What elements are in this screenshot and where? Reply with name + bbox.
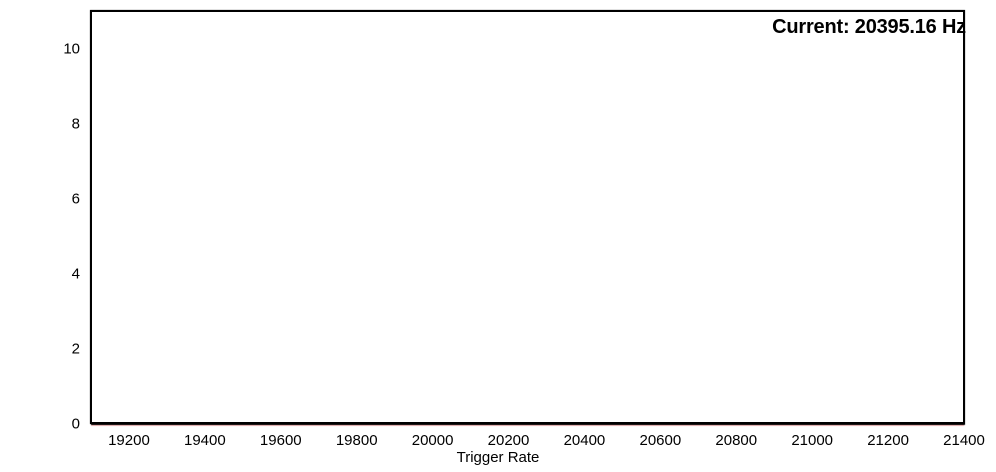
x-tick-label-8: 20800 — [715, 432, 757, 449]
x-tick-label-7: 20600 — [639, 432, 681, 449]
y-tick-label-2: 4 — [40, 265, 80, 282]
y-tick-label-3: 6 — [40, 190, 80, 207]
x-tick-label-0: 19200 — [108, 432, 150, 449]
plot-frame — [90, 10, 965, 424]
x-tick-label-10: 21200 — [867, 432, 909, 449]
x-tick-label-4: 20000 — [412, 432, 454, 449]
x-tick-label-5: 20200 — [488, 432, 530, 449]
y-tick-label-4: 8 — [40, 115, 80, 132]
y-tick-label-0: 0 — [40, 416, 80, 433]
y-tick-label-5: 10 — [40, 40, 80, 57]
x-tick-label-9: 21000 — [791, 432, 833, 449]
x-tick-label-3: 19800 — [336, 432, 378, 449]
x-tick-label-11: 21400 — [943, 432, 985, 449]
x-tick-label-2: 19600 — [260, 432, 302, 449]
trigger-rate-histogram-page: Current: 20395.16 Hz Trigger Rate 192001… — [0, 0, 996, 472]
x-tick-label-6: 20400 — [564, 432, 606, 449]
x-axis-title: Trigger Rate — [0, 449, 996, 466]
current-rate-readout: Current: 20395.16 Hz — [772, 16, 966, 39]
y-tick-label-1: 2 — [40, 340, 80, 357]
x-tick-label-1: 19400 — [184, 432, 226, 449]
